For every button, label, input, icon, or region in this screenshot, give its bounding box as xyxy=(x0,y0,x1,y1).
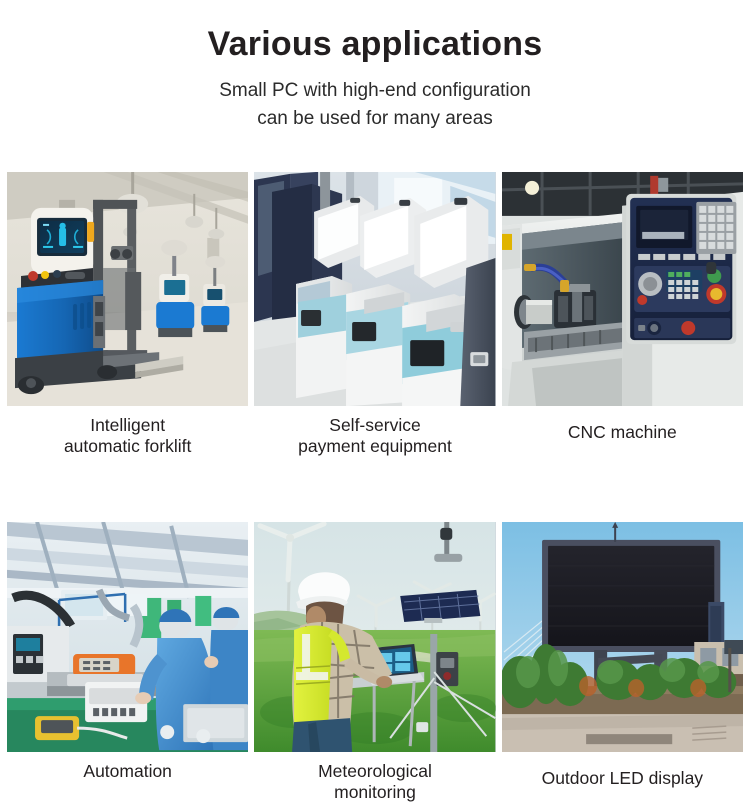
meteorological-photo xyxy=(254,522,495,752)
application-card-kiosk[interactable]: Self-service payment equipment xyxy=(254,172,495,458)
page-title: Various applications xyxy=(0,26,750,63)
forklift-illustration xyxy=(7,172,248,406)
caption-forklift: Intelligent automatic forklift xyxy=(7,406,248,458)
kiosk-illustration xyxy=(254,172,495,406)
page-subtitle-line-1: Small PC with high-end configuration xyxy=(0,77,750,105)
led-photo xyxy=(502,522,743,752)
caption-kiosk: Self-service payment equipment xyxy=(254,406,495,458)
cnc-photo xyxy=(502,172,743,406)
page-header: Various applications Small PC with high-… xyxy=(0,0,750,132)
application-card-cnc[interactable]: CNC machine xyxy=(502,172,743,458)
application-card-automation[interactable]: Automation xyxy=(7,522,248,803)
application-card-led[interactable]: Outdoor LED display xyxy=(502,522,743,803)
applications-row-1: Intelligent automatic forklift xyxy=(7,172,743,458)
applications-grid: Intelligent automatic forklift xyxy=(7,172,743,803)
caption-cnc: CNC machine xyxy=(502,406,743,443)
cnc-illustration xyxy=(502,172,743,406)
caption-meteorological: Meteorological monitoring xyxy=(254,752,495,803)
page-subtitle-line-2: can be used for many areas xyxy=(0,105,750,133)
kiosk-photo xyxy=(254,172,495,406)
application-card-forklift[interactable]: Intelligent automatic forklift xyxy=(7,172,248,458)
caption-automation: Automation xyxy=(7,752,248,782)
applications-row-2: Automation xyxy=(7,522,743,803)
page-subtitle: Small PC with high-end configuration can… xyxy=(0,77,750,132)
led-illustration xyxy=(502,522,743,752)
applications-page: Various applications Small PC with high-… xyxy=(0,0,750,774)
caption-led: Outdoor LED display xyxy=(502,752,743,789)
automation-illustration xyxy=(7,522,248,752)
application-card-meteorological[interactable]: Meteorological monitoring xyxy=(254,522,495,803)
meteorological-illustration xyxy=(254,522,495,752)
automation-photo xyxy=(7,522,248,752)
forklift-photo xyxy=(7,172,248,406)
